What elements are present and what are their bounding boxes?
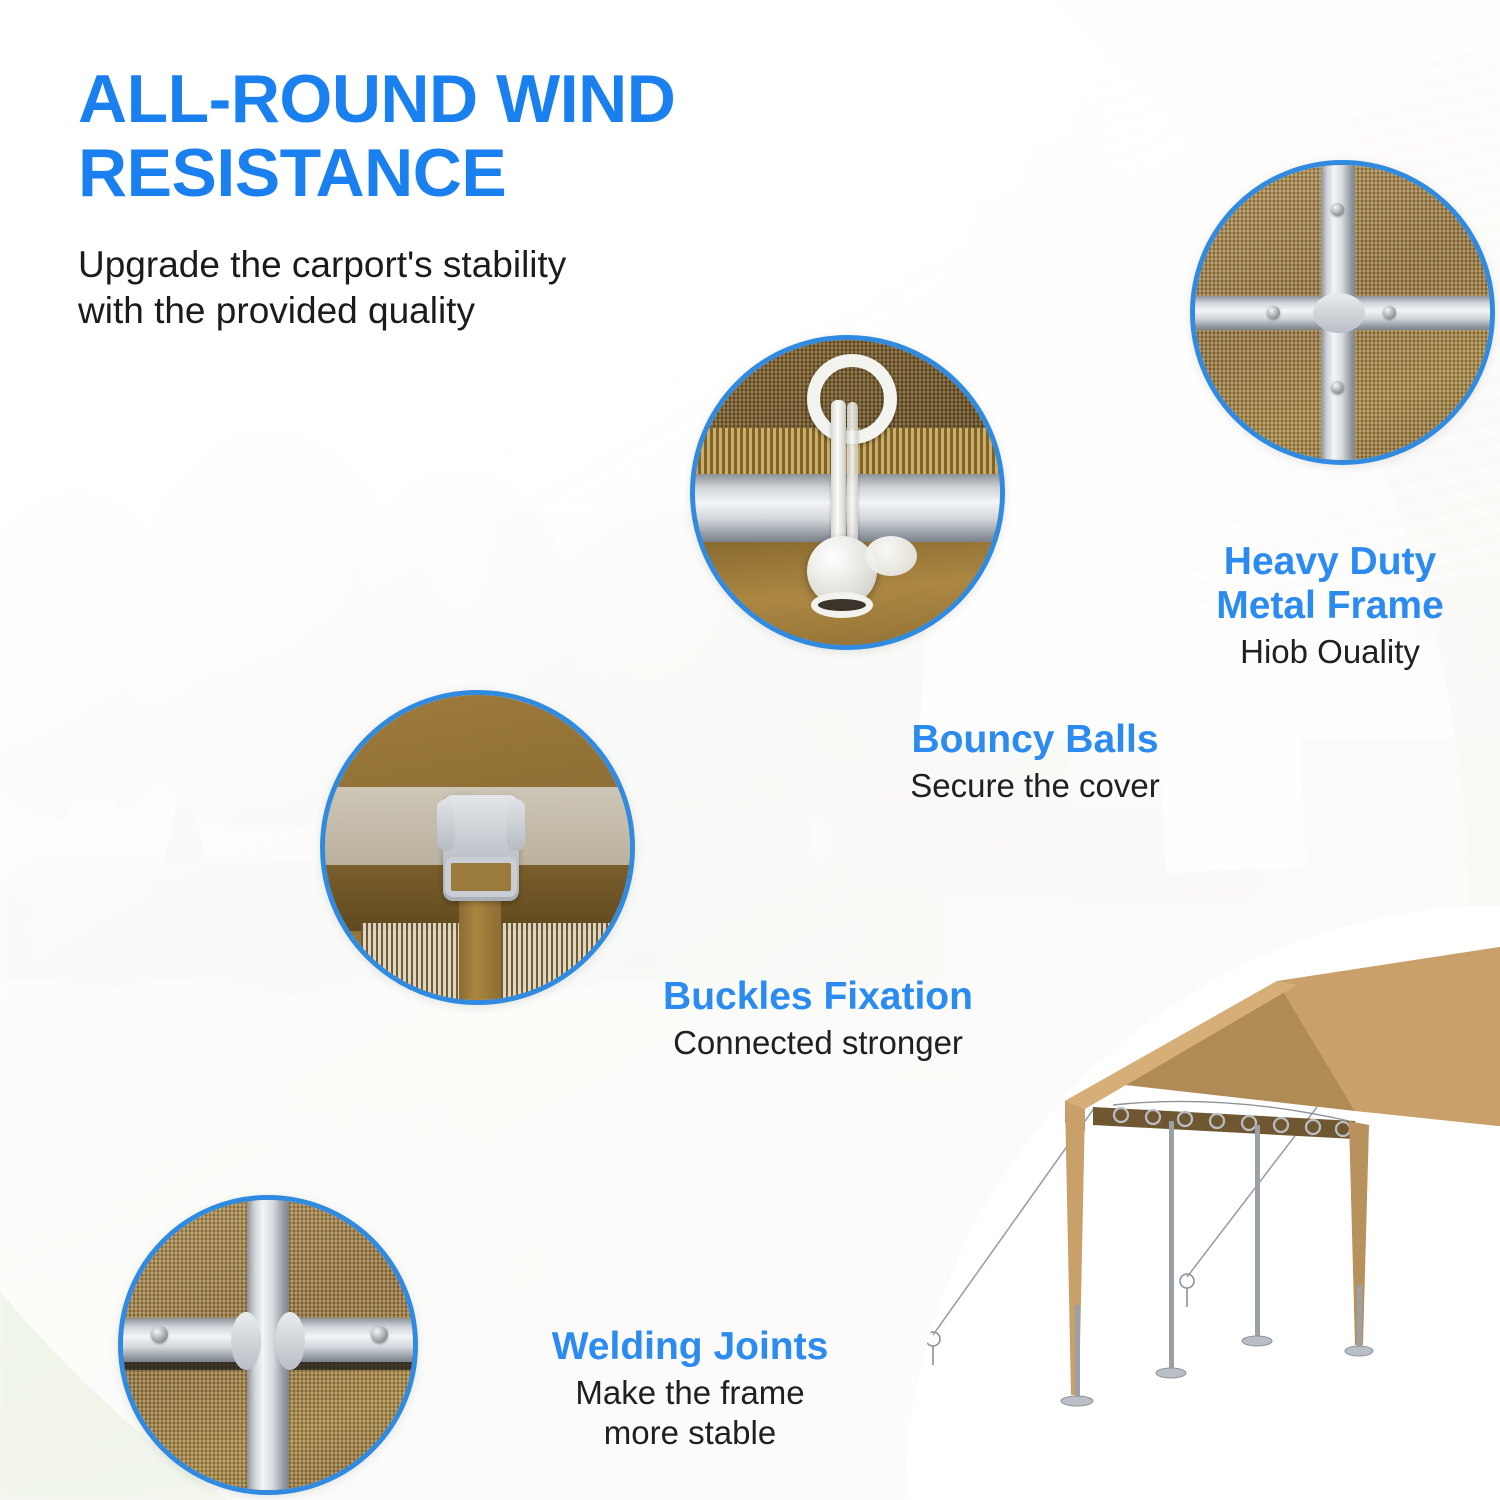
feature-label-buckles-fixation: Buckles Fixation Connected stronger [608,975,1028,1063]
lower-grommet-icon [811,592,873,618]
page-title: ALL-ROUND WIND RESISTANCE [78,62,838,210]
buckle-strap-slot [445,857,517,897]
headline-line-1: ALL-ROUND WIND [78,62,838,136]
screw-icon [1331,381,1344,394]
weld-bead [231,1312,261,1370]
buckle-prong-left [437,799,455,851]
guy-ropes [933,1107,1500,1335]
subhead-line-2: with the provided quality [78,288,718,334]
feature-photo-welding-joint [118,1195,418,1495]
feature-photo-metal-frame [1190,160,1495,465]
feature-title: Buckles Fixation [608,975,1028,1019]
screw-icon [151,1326,168,1343]
headline-line-2: RESISTANCE [78,136,838,210]
infographic-canvas: ALL-ROUND WIND RESISTANCE Upgrade the ca… [0,0,1500,1500]
bungee-cord [831,400,846,548]
subhead-line-1: Upgrade the carport's stability [78,242,718,288]
feature-title-line2: Metal Frame [1160,584,1500,628]
joint-connector [1313,293,1365,333]
feature-subtitle: Hiob Ouality [1160,632,1500,672]
feature-label-bouncy-balls: Bouncy Balls Secure the cover [845,718,1225,806]
feature-subtitle: Secure the cover [845,766,1225,806]
page-subtitle: Upgrade the carport's stability with the… [78,242,718,334]
feature-subtitle-line-2: more stable [500,1413,880,1453]
screw-icon [371,1326,388,1343]
screw-icon [1331,203,1344,216]
fabric-strap [459,891,501,1005]
feature-title: Heavy Duty [1160,540,1500,584]
feature-label-heavy-duty-metal-frame: Heavy Duty Metal Frame Hiob Ouality [1160,540,1500,672]
feature-subtitle-line-1: Make the frame [500,1373,880,1413]
feature-title: Welding Joints [500,1325,880,1369]
feature-subtitle: Connected stronger [608,1023,1028,1063]
weld-bead [275,1312,305,1370]
feature-label-welding-joints: Welding Joints Make the frame more stabl… [500,1325,880,1453]
feature-title: Bouncy Balls [845,718,1225,762]
feature-photo-bouncy-balls [690,335,1005,650]
buckle-prong-right [507,799,525,851]
screw-icon [1267,306,1280,319]
metal-legs [1061,1121,1500,1442]
knotted-cord [865,536,917,576]
bungee-cord [847,402,858,546]
feature-photo-buckle [320,690,635,1005]
screw-icon [1383,306,1396,319]
